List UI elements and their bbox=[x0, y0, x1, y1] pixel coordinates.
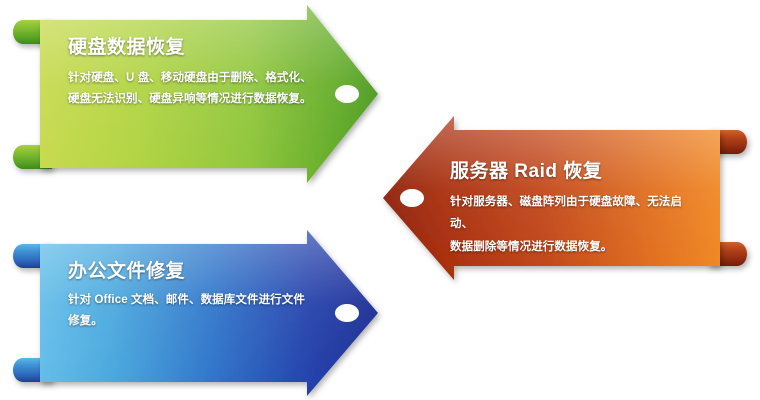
banner-desc-office-file-repair: 针对 Office 文档、邮件、数据库文件进行文件 修复。 bbox=[68, 290, 330, 333]
banner-desc-line: 针对服务器、磁盘阵列由于硬盘故障、无法启动、 bbox=[450, 191, 700, 236]
banner-desc-hdd-recovery: 针对硬盘、U 盘、移动硬盘由于删除、格式化、 硬盘无法识别、硬盘异响等情况进行数… bbox=[68, 68, 330, 111]
arrow-eyelet-blue bbox=[335, 304, 359, 322]
banner-text-server-raid-recovery: 服务器 Raid 恢复 针对服务器、磁盘阵列由于硬盘故障、无法启动、 数据删除等… bbox=[450, 162, 700, 258]
ribbon-curl-left-blue bbox=[13, 244, 52, 382]
banner-text-office-file-repair: 办公文件修复 针对 Office 文档、邮件、数据库文件进行文件 修复。 bbox=[68, 262, 330, 332]
banner-desc-line: 针对硬盘、U 盘、移动硬盘由于删除、格式化、 bbox=[68, 68, 330, 89]
banner-desc-line: 修复。 bbox=[68, 311, 330, 332]
banner-desc-line: 硬盘无法识别、硬盘异响等情况进行数据恢复。 bbox=[68, 89, 330, 110]
banner-text-hdd-recovery: 硬盘数据恢复 针对硬盘、U 盘、移动硬盘由于删除、格式化、 硬盘无法识别、硬盘异… bbox=[68, 38, 330, 110]
diagram-canvas: 硬盘数据恢复 针对硬盘、U 盘、移动硬盘由于删除、格式化、 硬盘无法识别、硬盘异… bbox=[0, 0, 760, 400]
arrow-eyelet-red bbox=[400, 189, 424, 207]
ribbon-curl-right-red bbox=[708, 130, 747, 266]
banner-title-server-raid-recovery: 服务器 Raid 恢复 bbox=[450, 162, 700, 183]
banner-title-office-file-repair: 办公文件修复 bbox=[68, 262, 330, 283]
banner-title-hdd-recovery: 硬盘数据恢复 bbox=[68, 38, 330, 59]
banner-desc-server-raid-recovery: 针对服务器、磁盘阵列由于硬盘故障、无法启动、 数据删除等情况进行数据恢复。 bbox=[450, 191, 700, 258]
ribbon-curl-left-green bbox=[13, 20, 52, 169]
banner-desc-line: 针对 Office 文档、邮件、数据库文件进行文件 bbox=[68, 290, 330, 311]
arrow-eyelet-green bbox=[335, 85, 359, 103]
banner-desc-line: 数据删除等情况进行数据恢复。 bbox=[450, 236, 700, 258]
